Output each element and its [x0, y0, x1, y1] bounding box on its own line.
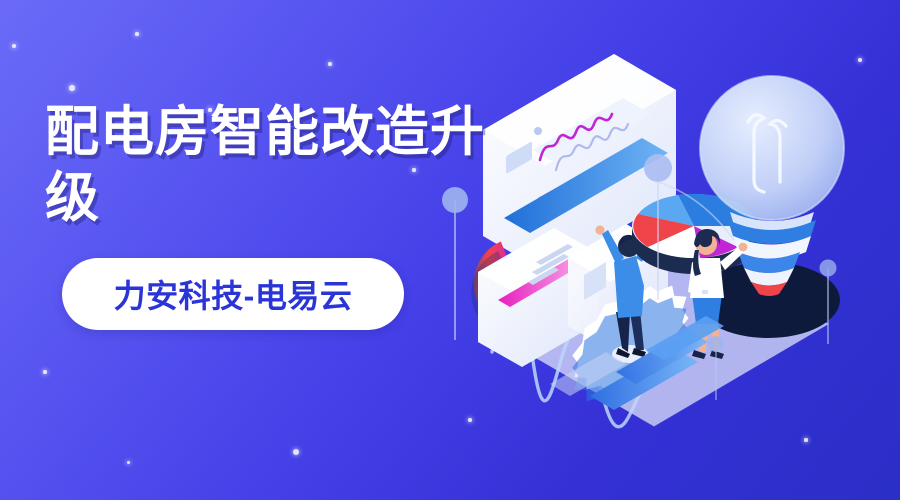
illustration-isometric-dashboard — [430, 0, 900, 500]
brand-badge-label: 力安科技-电易云 — [114, 271, 353, 317]
promo-banner: 配电房智能改造升级 力安科技-电易云 — [0, 0, 900, 500]
sparkle-dot — [69, 85, 75, 91]
sparkle-dot — [43, 370, 46, 373]
page-title: 配电房智能改造升级 — [45, 100, 505, 232]
brand-badge[interactable]: 力安科技-电易云 — [62, 258, 404, 330]
sparkle-dot — [293, 449, 299, 455]
sparkle-dot — [135, 32, 139, 36]
sparkle-dot — [127, 461, 130, 464]
sparkle-dot — [328, 62, 332, 66]
sparkle-dot — [12, 44, 16, 48]
headline-text: 配电房智能改造升级 — [45, 102, 485, 228]
